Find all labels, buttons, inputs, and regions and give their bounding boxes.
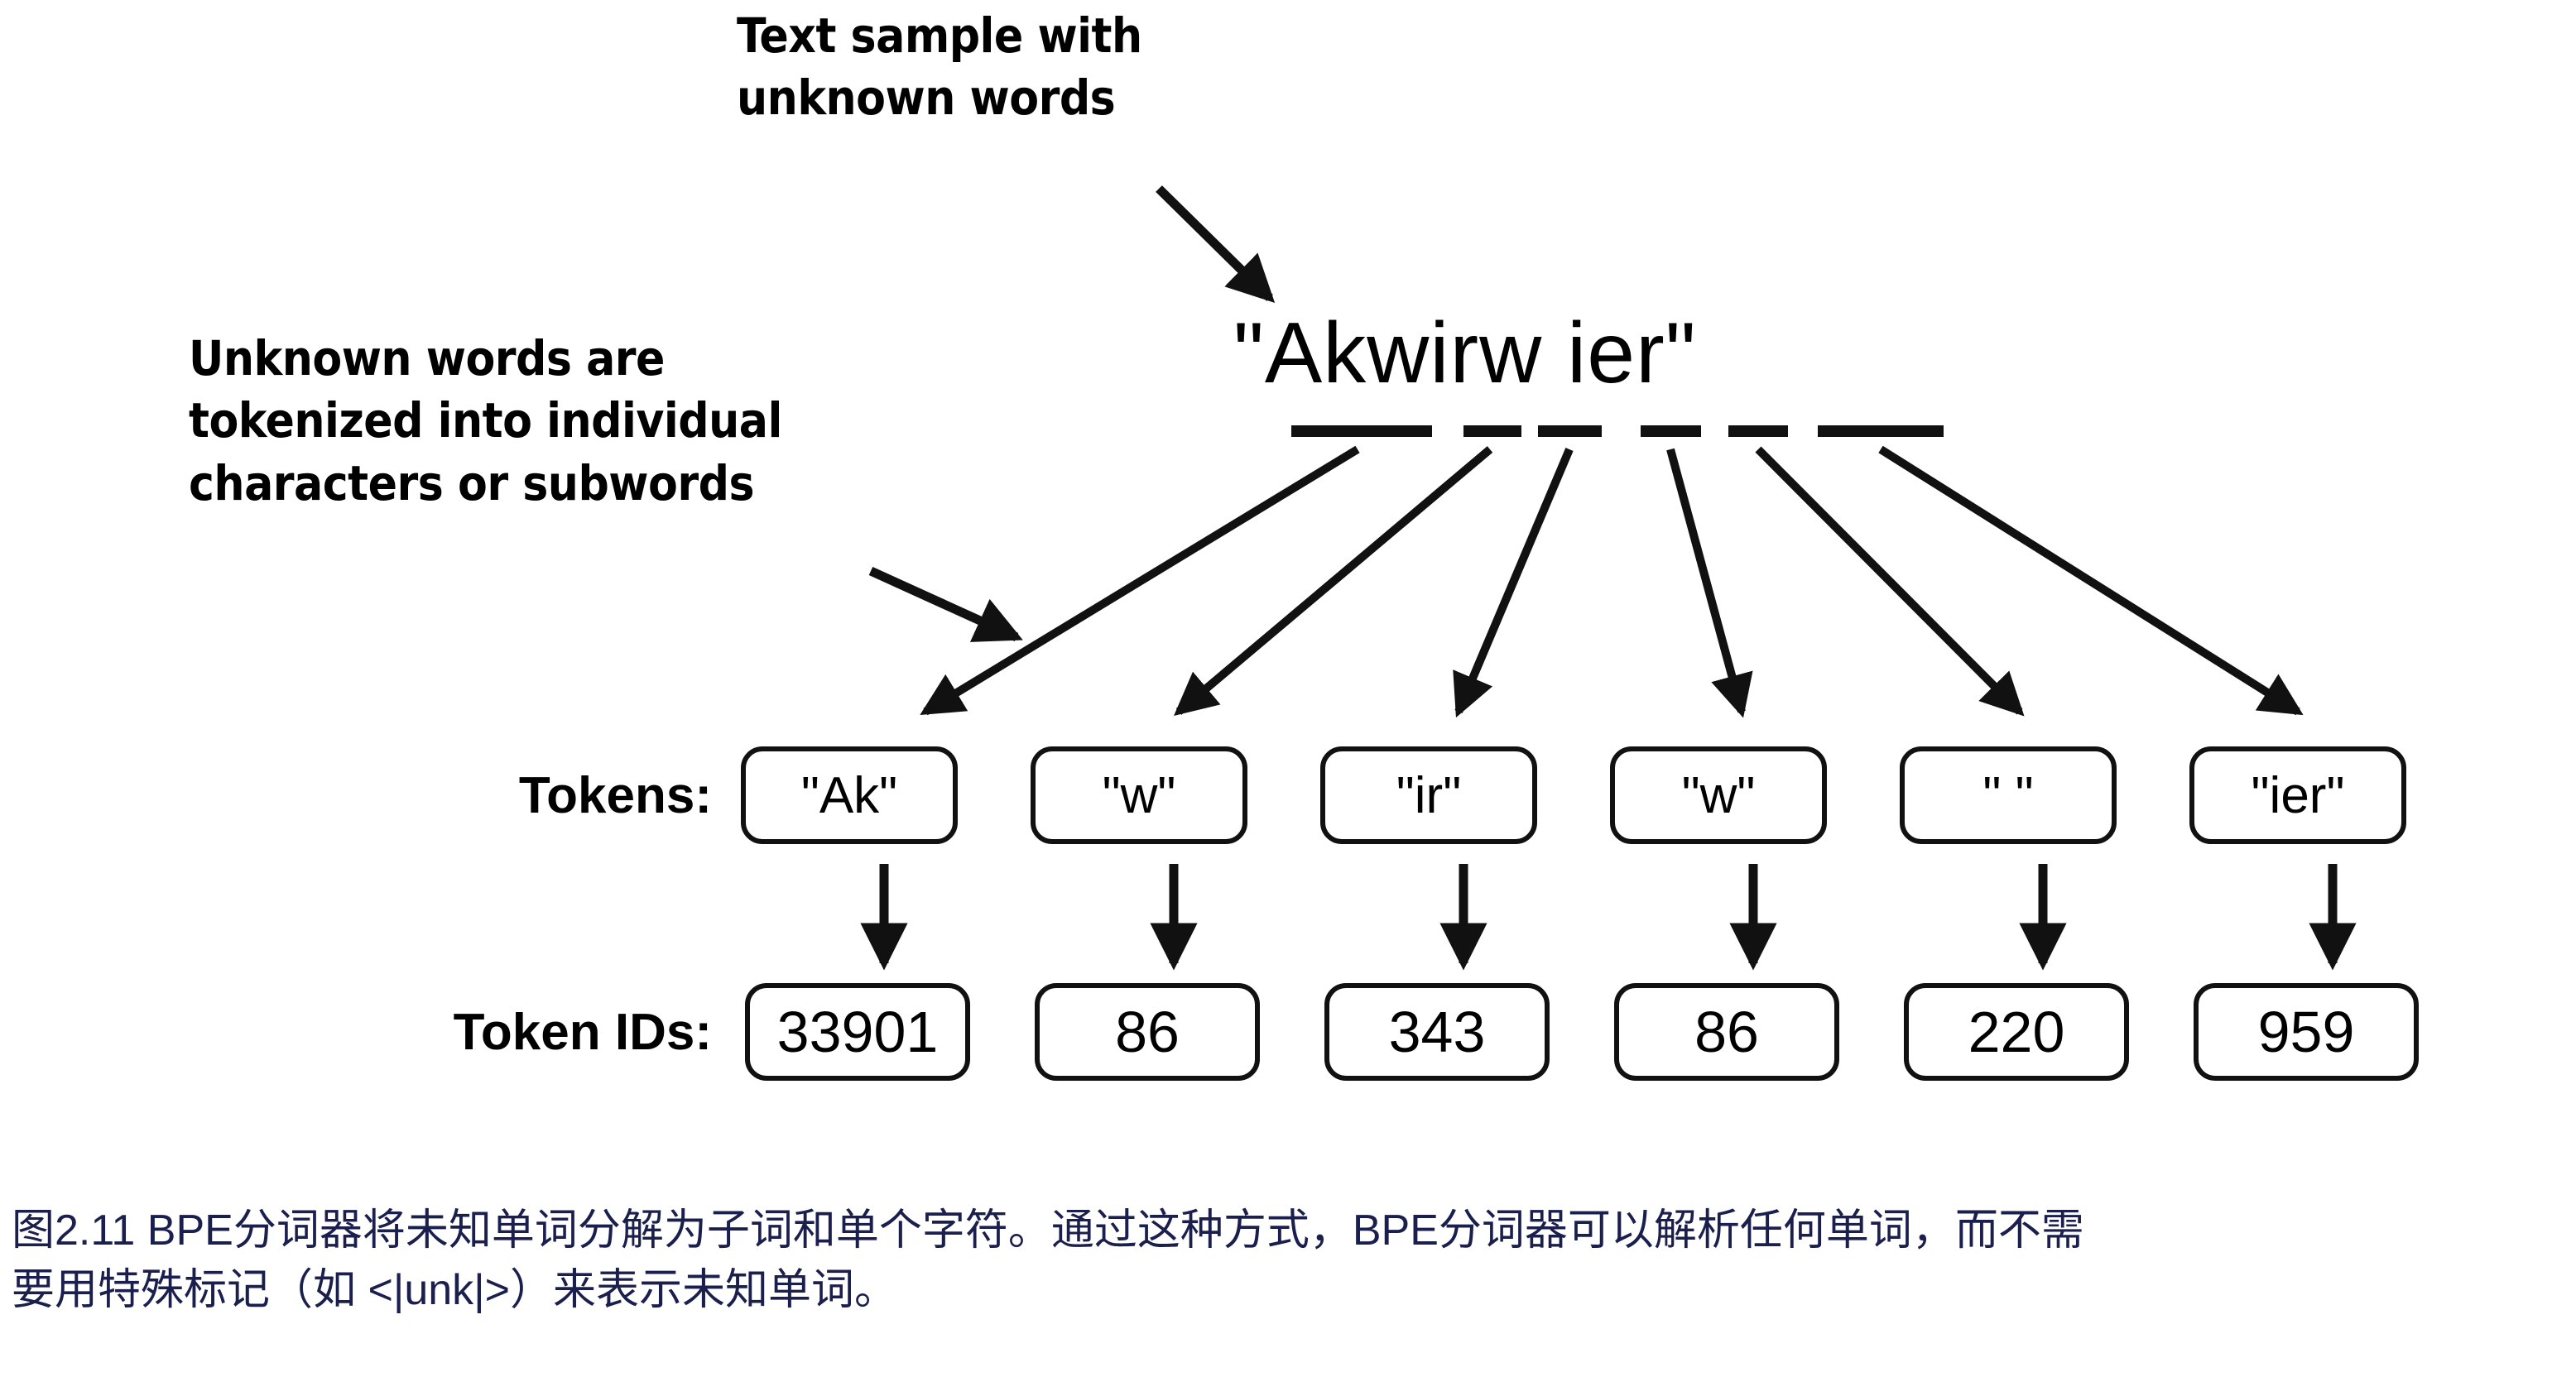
arrow-left-callout <box>871 571 1016 637</box>
fanout-arrow-2 <box>1179 449 1490 712</box>
token-box: "ir" <box>1320 746 1537 844</box>
fanout-arrow-4 <box>1670 449 1742 712</box>
callout-unknown-words: Unknown words are tokenized into individ… <box>189 328 934 515</box>
token-id-box: 86 <box>1614 983 1839 1081</box>
token-id-box: 86 <box>1035 983 1260 1081</box>
mapping-arrows <box>884 864 2333 963</box>
fanout-arrow-6 <box>1881 449 2298 712</box>
tokens-row-label: Tokens: <box>348 766 712 825</box>
caption-line-2: 要用特殊标记（如 <|unk|>）来表示未知单词。 <box>12 1261 2569 1321</box>
arrow-top-callout <box>1159 189 1270 298</box>
fanout-arrow-3 <box>1459 449 1569 712</box>
sample-string: "Akwirw ier" <box>1233 305 1697 403</box>
bpe-tokenizer-figure: Text sample with unknown words Unknown w… <box>0 0 2576 1377</box>
caption-line-1: 图2.11 BPE分词器将未知单词分解为子词和单个字符。通过这种方式，BPE分词… <box>12 1202 2569 1261</box>
fanout-arrow-5 <box>1758 449 2020 712</box>
token-box: "ier" <box>2189 746 2406 844</box>
token-id-box: 33901 <box>745 983 970 1081</box>
fanout-arrow-1 <box>925 449 1358 712</box>
token-id-box: 959 <box>2194 983 2419 1081</box>
token-box: "w" <box>1610 746 1827 844</box>
token-box: "Ak" <box>741 746 958 844</box>
token-id-box: 220 <box>1904 983 2129 1081</box>
token-id-box: 343 <box>1324 983 1550 1081</box>
token-ids-row-label: Token IDs: <box>248 1003 712 1062</box>
token-box: " " <box>1900 746 2117 844</box>
token-box: "w" <box>1031 746 1247 844</box>
callout-text-sample: Text sample with unknown words <box>737 5 1316 130</box>
arrow-layer <box>0 0 2576 1377</box>
figure-caption: 图2.11 BPE分词器将未知单词分解为子词和单个字符。通过这种方式，BPE分词… <box>12 1202 2569 1321</box>
fanout-arrows <box>925 449 2298 712</box>
